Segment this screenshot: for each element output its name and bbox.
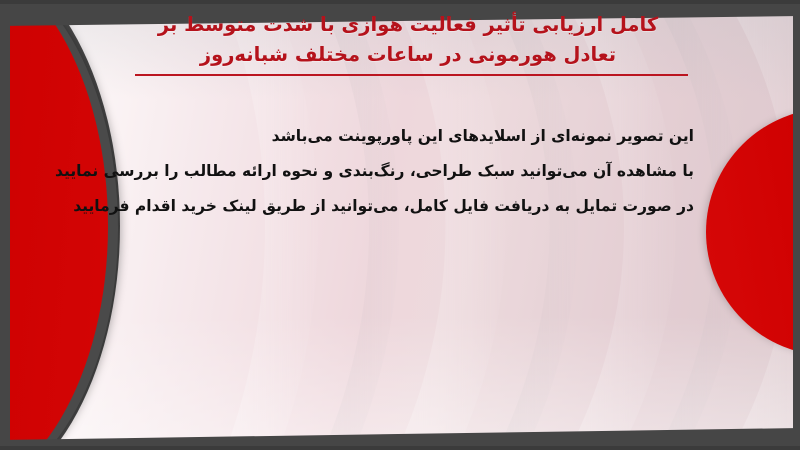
frame-hairline-top <box>0 0 800 4</box>
body-line-3: در صورت تمایل به دریافت فایل کامل، می‌تو… <box>94 189 694 224</box>
slide-title-line-1: کامل ارزیابی تأثیر فعالیت هوازی با شدت م… <box>118 10 698 40</box>
frame-band-right <box>793 0 800 450</box>
slide-title: کامل ارزیابی تأثیر فعالیت هوازی با شدت م… <box>118 10 698 70</box>
title-underline <box>135 74 688 76</box>
body-line-2: با مشاهده آن می‌توانید سبک طراحی، رنگ‌بن… <box>94 154 694 189</box>
body-line-1: این تصویر نمونه‌ای از اسلایدهای این پاور… <box>94 119 694 154</box>
presentation-slide: کامل ارزیابی تأثیر فعالیت هوازی با شدت م… <box>0 0 800 450</box>
frame-band-left <box>0 0 10 450</box>
slide-title-line-2: تعادل هورمونی در ساعات مختلف شبانه‌روز <box>118 40 698 70</box>
frame-hairline-bottom <box>0 446 800 450</box>
slide-body: این تصویر نمونه‌ای از اسلایدهای این پاور… <box>94 119 694 224</box>
